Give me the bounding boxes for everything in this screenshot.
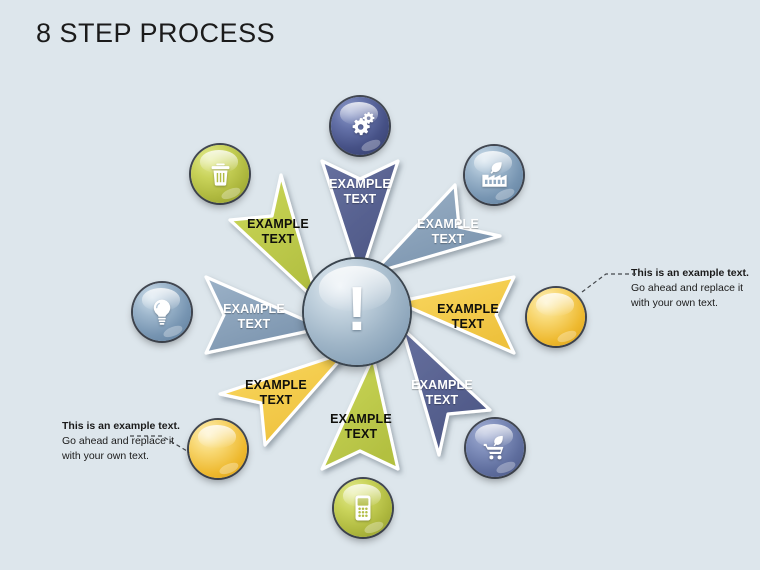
orb-cart[interactable] (466, 419, 524, 477)
blank-orb-icon (527, 288, 585, 346)
mobile-phone-icon (334, 479, 392, 537)
orb-gear[interactable] (331, 97, 389, 155)
blank-orb-icon (189, 420, 247, 478)
exclamation-mark-icon: ! (304, 259, 410, 365)
page-title: 8 STEP PROCESS (36, 18, 275, 49)
slide-canvas: 8 STEP PROCESS (0, 0, 760, 570)
segment-shape-bottom[interactable] (322, 357, 398, 469)
callout-leader-left (130, 428, 194, 458)
orb-trash[interactable] (191, 145, 249, 203)
eco-factory-icon (465, 146, 523, 204)
callout-right[interactable]: This is an example text. Go ahead and re… (631, 266, 749, 311)
callout-leader-right (580, 262, 640, 294)
gears-icon (331, 97, 389, 155)
trash-can-icon (191, 145, 249, 203)
eco-shopping-cart-icon (466, 419, 524, 477)
center-hub[interactable]: ! (304, 259, 410, 365)
callout-right-lead: This is an example text. (631, 267, 749, 279)
lightbulb-icon (133, 283, 191, 341)
callout-right-body: Go ahead and replace it with your own te… (631, 282, 743, 309)
orb-callout-left[interactable] (189, 420, 247, 478)
orb-callout-right[interactable] (527, 288, 585, 346)
orb-factory[interactable] (465, 146, 523, 204)
orb-bulb[interactable] (133, 283, 191, 341)
orb-mobile[interactable] (334, 479, 392, 537)
